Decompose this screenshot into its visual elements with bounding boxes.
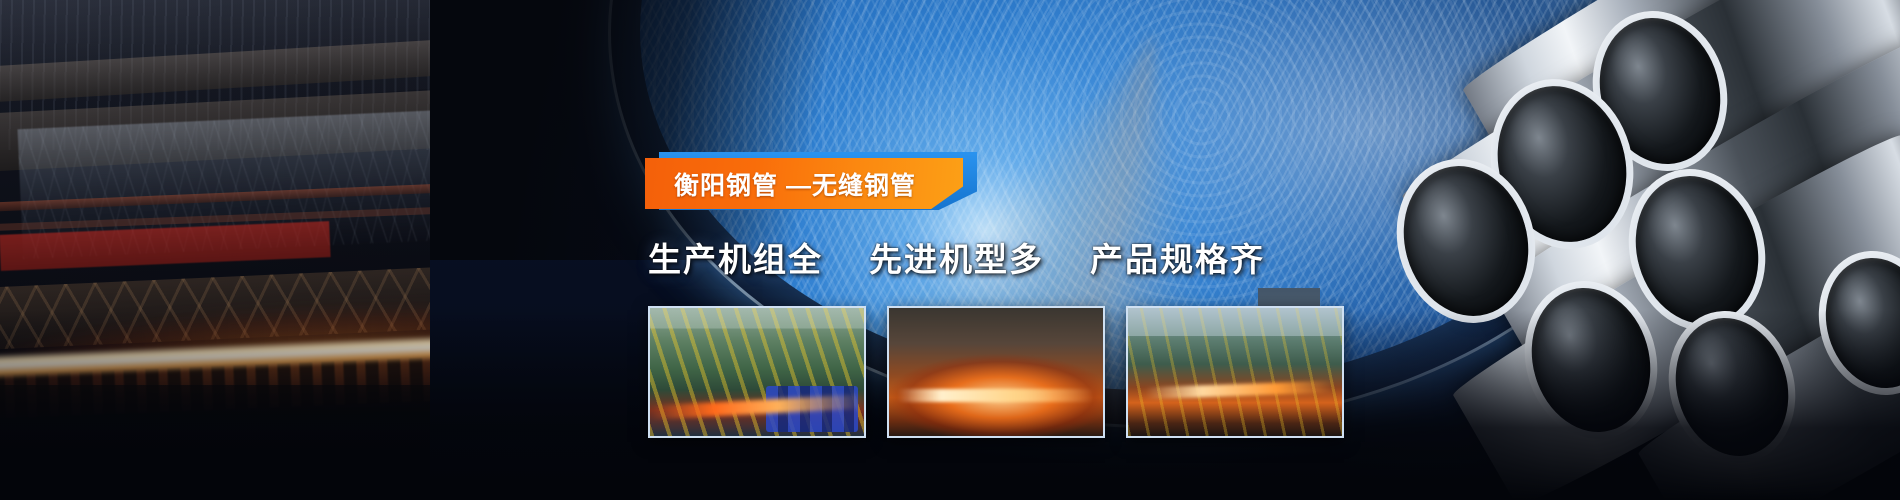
headline-item-1: 生产机组全 [648, 233, 823, 281]
headline: 生产机组全 先进机型多 产品规格齐 [648, 233, 1265, 281]
badge-label: 衡阳钢管 —无缝钢管 [645, 158, 945, 209]
earth-left-shadow [430, 0, 850, 260]
promo-banner: 衡阳钢管 —无缝钢管 生产机组全 先进机型多 产品规格齐 [0, 0, 1900, 500]
thumbnail-rolling-mill-line[interactable] [648, 306, 866, 438]
thumbnail-hot-billet-furnace[interactable] [887, 306, 1105, 438]
thumbnail-strip [648, 306, 1344, 438]
title-badge[interactable]: 衡阳钢管 —无缝钢管 [645, 152, 985, 214]
headline-item-3: 产品规格齐 [1090, 233, 1265, 281]
headline-item-2: 先进机型多 [869, 233, 1044, 281]
thumbnail-seamless-pipe-workshop[interactable] [1126, 306, 1344, 438]
